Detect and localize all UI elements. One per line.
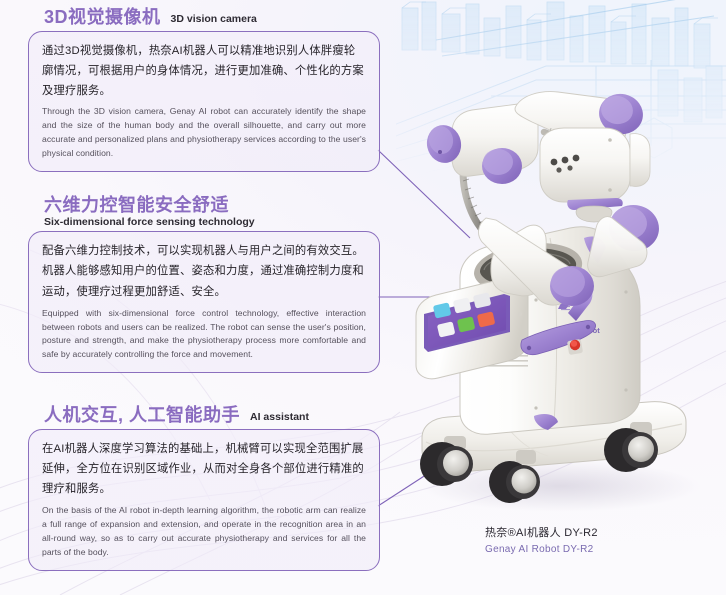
robot-illustration: DeyeeRobot — [398, 78, 718, 518]
emergency-stop-button — [567, 339, 583, 355]
feature-heading-1: 3D视觉摄像机 3D vision camera — [28, 8, 380, 28]
feature-block-3d-camera: 3D视觉摄像机 3D vision camera 通过3D视觉摄像机，热奈AI机… — [28, 8, 380, 172]
feature-heading-3: 人机交互, 人工智能助手 AI assistant — [28, 406, 380, 426]
feature-body-en-1: Through the 3D vision camera, Genay AI r… — [42, 105, 366, 161]
feature-card-1: 通过3D视觉摄像机，热奈AI机器人可以精准地识别人体胖瘦轮廓情况，可根据用户的身… — [28, 31, 380, 172]
feature-card-2: 配备六维力控制技术，可以实现机器人与用户之间的有效交互。机器人能够感知用户的位置… — [28, 231, 380, 373]
feature-body-cn-2: 配备六维力控制技术，可以实现机器人与用户之间的有效交互。机器人能够感知用户的位置… — [42, 241, 366, 301]
feature-body-en-2: Equipped with six-dimensional force cont… — [42, 307, 366, 363]
feature-block-force-sensing: 六维力控智能安全舒适 Six-dimensional force sensing… — [28, 196, 380, 373]
feature-body-en-3: On the basis of the AI robot in-depth le… — [42, 504, 366, 560]
feature-card-3: 在AI机器人深度学习算法的基础上，机械臂可以实现全范围扩展延伸，全方位在识别区域… — [28, 429, 380, 571]
poster-stage: DeyeeRobot — [0, 0, 726, 595]
feature-body-cn-3: 在AI机器人深度学习算法的基础上，机械臂可以实现全范围扩展延伸，全方位在识别区域… — [42, 439, 366, 499]
feature-title-cn-3: 人机交互, 人工智能助手 — [44, 406, 240, 426]
product-caption: 热奈®AI机器人 DY-R2 Genay AI Robot DY-R2 — [485, 525, 715, 557]
product-name-en: Genay AI Robot DY-R2 — [485, 542, 715, 557]
arm-joint-mid — [482, 148, 522, 184]
feature-title-cn-1: 3D视觉摄像机 — [44, 8, 161, 28]
feature-title-en-3: AI assistant — [250, 412, 309, 426]
feature-title-en-1: 3D vision camera — [171, 14, 257, 28]
feature-body-cn-1: 通过3D视觉摄像机，热奈AI机器人可以精准地识别人体胖瘦轮廓情况，可根据用户的身… — [42, 41, 366, 101]
product-name-cn: 热奈®AI机器人 DY-R2 — [485, 525, 715, 542]
feature-block-ai-assistant: 人机交互, 人工智能助手 AI assistant 在AI机器人深度学习算法的基… — [28, 406, 380, 571]
feature-title-cn-2: 六维力控智能安全舒适 — [44, 196, 229, 216]
feature-heading-2: 六维力控智能安全舒适 Six-dimensional force sensing… — [28, 196, 380, 228]
arm-joint-shoulder — [550, 266, 594, 306]
feature-title-en-2: Six-dimensional force sensing technology — [44, 217, 255, 229]
